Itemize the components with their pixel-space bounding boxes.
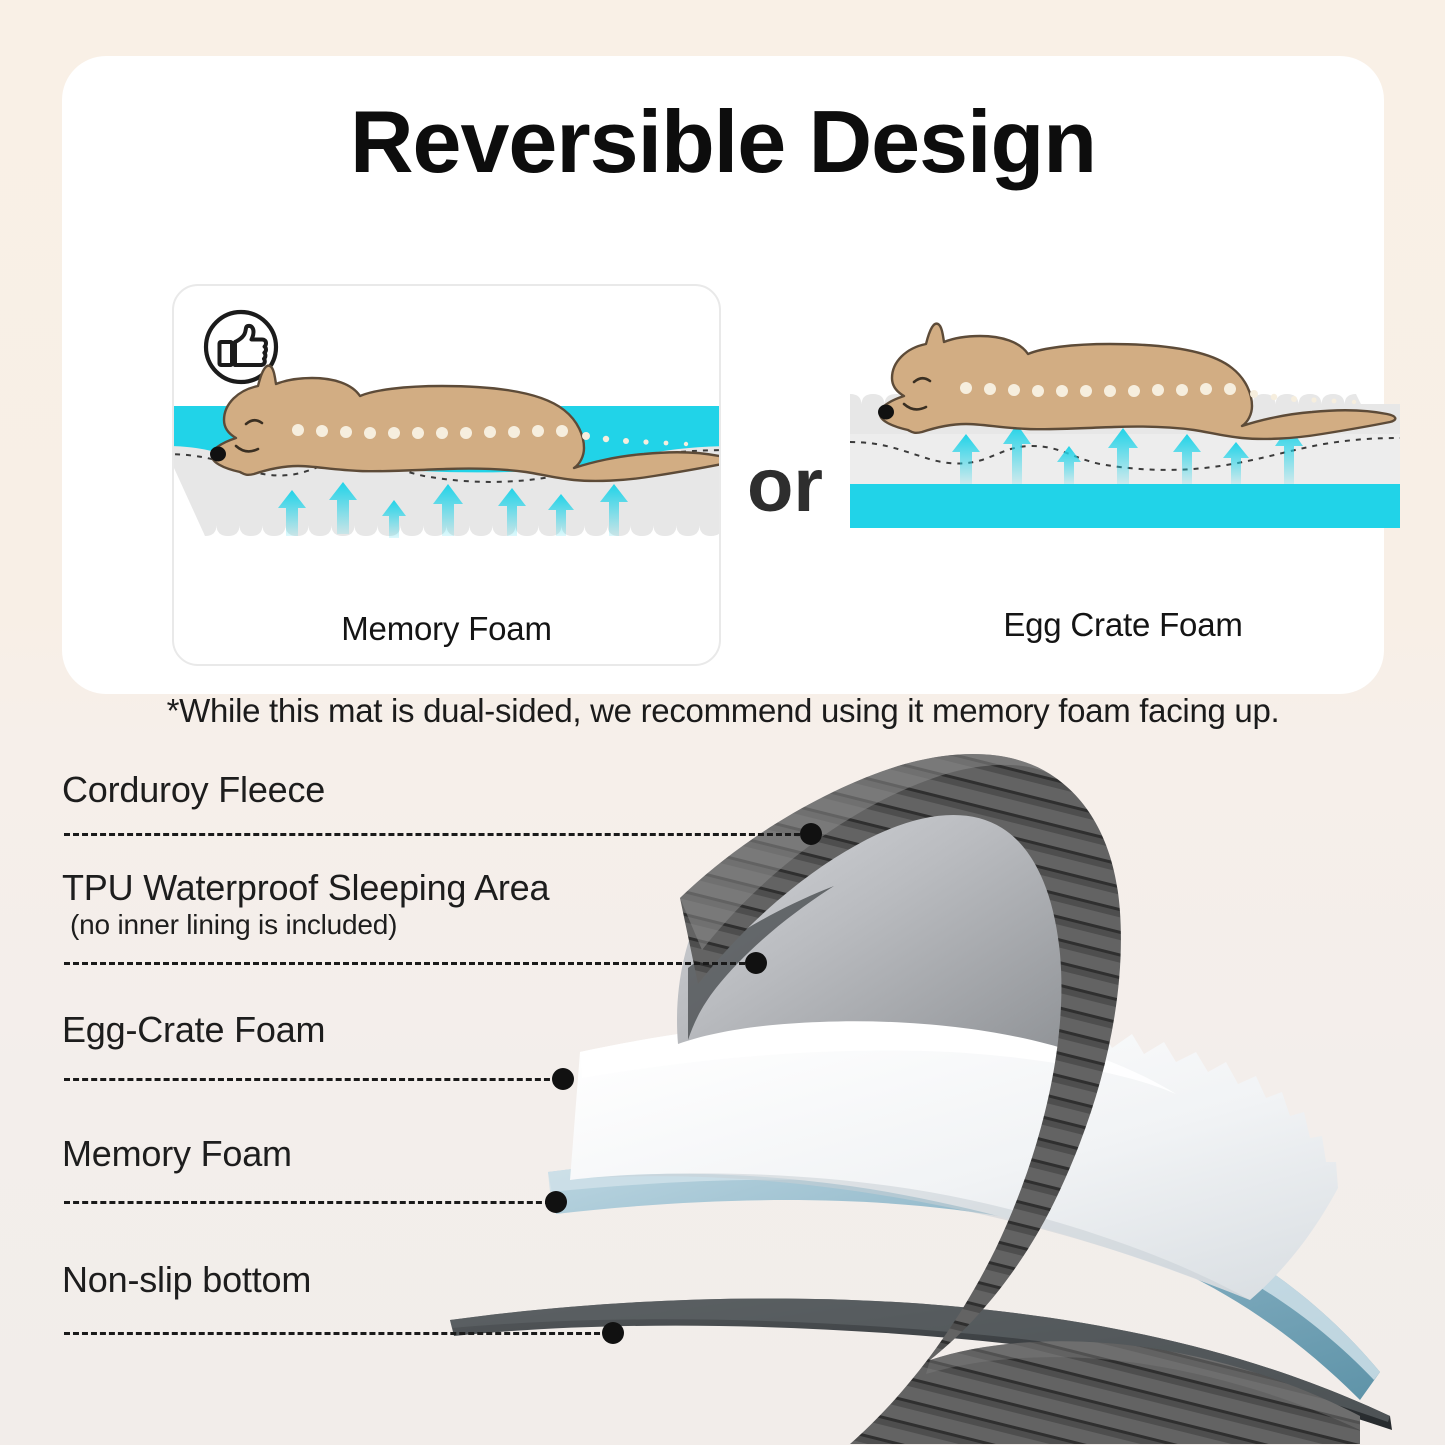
or-separator-label: or [730,448,840,524]
leader-dot-egg-crate-foam [552,1068,574,1090]
reversible-design-card: Reversible Design [62,56,1384,694]
callout-sublabel: (no inner lining is included) [62,908,549,942]
infographic-root: Reversible Design [0,0,1445,1445]
leader-line-corduroy-fleece [64,833,809,836]
page-title: Reversible Design [62,98,1384,186]
panel-memory-foam-side: Memory Foam [172,284,721,666]
callout-label: Memory Foam [62,1134,292,1174]
layer-breakdown-section: Corduroy Fleece TPU Waterproof Sleeping … [0,700,1445,1445]
callout-corduroy-fleece: Corduroy Fleece [62,770,325,810]
leader-dot-tpu-waterproof [745,952,767,974]
leader-dot-memory-foam [545,1191,567,1213]
egg-crate-illustration [842,284,1404,604]
callout-label: Corduroy Fleece [62,770,325,810]
panel-caption-egg-crate: Egg Crate Foam [842,606,1404,644]
leader-dot-non-slip-bottom [602,1322,624,1344]
callout-tpu-waterproof: TPU Waterproof Sleeping Area (no inner l… [62,868,549,942]
leader-dot-corduroy-fleece [800,823,822,845]
callout-label: TPU Waterproof Sleeping Area [62,868,549,908]
callout-egg-crate-foam: Egg-Crate Foam [62,1010,325,1050]
callout-label: Egg-Crate Foam [62,1010,325,1050]
callout-non-slip-bottom: Non-slip bottom [62,1260,311,1300]
callout-label: Non-slip bottom [62,1260,311,1300]
memory-foam-illustration [174,286,719,606]
callout-memory-foam: Memory Foam [62,1134,292,1174]
leader-line-egg-crate-foam [64,1078,559,1081]
leader-line-tpu-waterproof [64,962,754,965]
panel-egg-crate-side: Egg Crate Foam [842,284,1404,662]
panel-caption-memory-foam: Memory Foam [174,610,719,648]
leader-line-non-slip-bottom [64,1332,609,1335]
leader-line-memory-foam [64,1201,551,1204]
